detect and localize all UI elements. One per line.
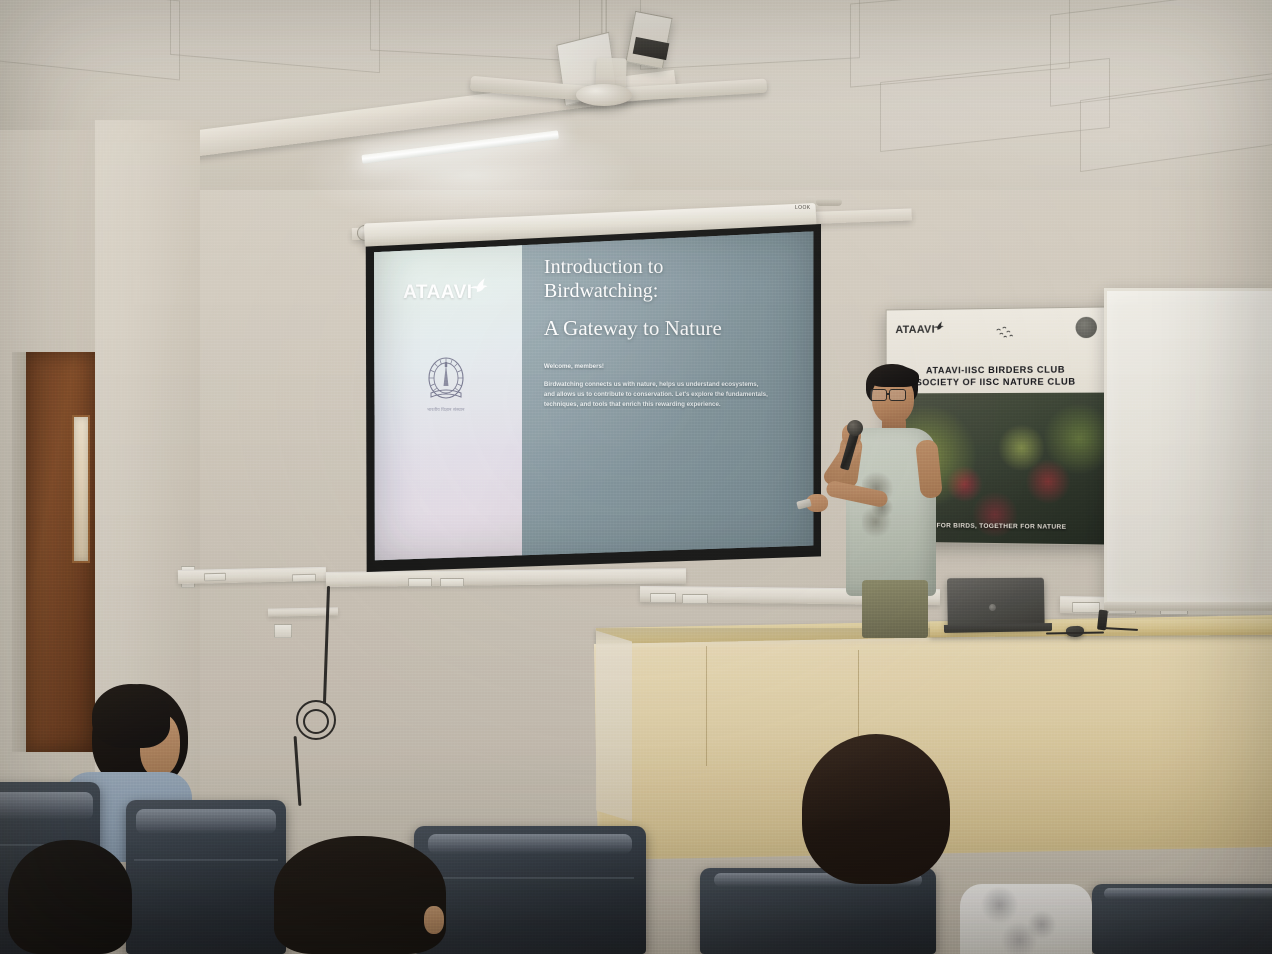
poster-logo-text: ATAAVI — [895, 324, 934, 336]
slide-body-text: Birdwatching connects us with nature, he… — [544, 380, 770, 410]
audience-top-patterned — [960, 884, 1092, 954]
chair-seam — [134, 859, 278, 861]
poster-heading-line2: SOCIETY OF IISC NATURE CLUB — [887, 376, 1107, 387]
eyeglasses-left-lens — [870, 389, 887, 401]
audience-head — [802, 734, 950, 884]
presentation-slide: ATAAVI — [370, 228, 816, 565]
power-cable-coil — [303, 709, 329, 734]
chair-highlight — [136, 809, 277, 834]
presenter-hair-fringe — [869, 366, 919, 387]
laptop[interactable] — [947, 578, 1045, 630]
wall-switch[interactable] — [274, 624, 292, 638]
audience-hair — [802, 734, 950, 884]
microphone-head — [847, 420, 863, 436]
screen-wall-bracket — [816, 198, 842, 206]
poster-ataavi-logo: ATAAVI — [895, 324, 944, 336]
wall-socket[interactable] — [408, 578, 432, 587]
ceiling-tile — [640, 0, 860, 70]
slide-welcome-text: Welcome, members! — [544, 363, 785, 370]
wall-socket[interactable] — [440, 578, 464, 587]
screen-brand-label: LOOK — [795, 205, 811, 211]
chair[interactable] — [126, 800, 286, 954]
projection-screen-surface[interactable]: ATAAVI — [370, 228, 816, 565]
audience-hair-front — [92, 684, 170, 748]
audience-ear — [424, 906, 444, 934]
slide-right-panel: Introduction to Birdwatching: A Gateway … — [522, 228, 816, 565]
ataavi-logo: ATAAVI — [403, 282, 489, 304]
eyeglasses-right-lens — [889, 389, 906, 401]
iisc-seal-icon — [1076, 317, 1097, 338]
fan-hub — [576, 84, 632, 106]
stage-counter-side-return — [596, 630, 632, 821]
poster-bird-flock-icon — [995, 326, 1017, 345]
chair-highlight — [428, 834, 632, 854]
slide-title-line2: Birdwatching: — [544, 279, 785, 303]
eyeglasses-bridge — [886, 393, 890, 395]
wall-socket[interactable] — [204, 573, 226, 581]
lecture-hall-photo: LOOK ATAAVI — [0, 0, 1272, 954]
audience-head — [8, 840, 132, 954]
audience-hair — [8, 840, 132, 954]
chair[interactable] — [414, 826, 646, 954]
bird-icon — [932, 319, 945, 334]
wall-socket[interactable] — [1072, 602, 1100, 613]
chair-highlight — [1104, 888, 1272, 899]
slide-title: Introduction to Birdwatching: — [544, 255, 785, 304]
wall-socket[interactable] — [292, 574, 316, 583]
slide-left-panel: ATAAVI — [370, 228, 522, 565]
laptop-logo-icon — [989, 604, 996, 611]
stage-panel-seam — [706, 646, 707, 766]
audience-head — [274, 836, 446, 954]
whiteboard-marker-tray — [1104, 602, 1272, 611]
slide-subtitle: A Gateway to Nature — [544, 316, 785, 341]
wall-socket[interactable] — [650, 593, 676, 603]
bird-icon — [467, 275, 489, 301]
poster-header-band — [887, 307, 1107, 402]
door-vision-panel — [72, 415, 90, 563]
chair-highlight — [0, 792, 93, 820]
chair[interactable] — [1092, 884, 1272, 954]
iisc-emblem: भारतीय विज्ञान संस्थान — [422, 356, 470, 413]
iisc-emblem-motto: भारतीय विज्ञान संस्थान — [427, 407, 465, 413]
audience-hair — [274, 836, 446, 954]
wall-socket[interactable] — [682, 594, 708, 604]
poster-heading-line1: ATAAVI-IISC BIRDERS CLUB — [887, 364, 1107, 375]
presenter-shorts — [862, 580, 928, 638]
chair-seam — [426, 877, 635, 879]
whiteboard[interactable] — [1104, 288, 1272, 604]
slide-title-line1: Introduction to — [544, 255, 785, 279]
ataavi-logo-text: ATAAVI — [403, 282, 473, 304]
